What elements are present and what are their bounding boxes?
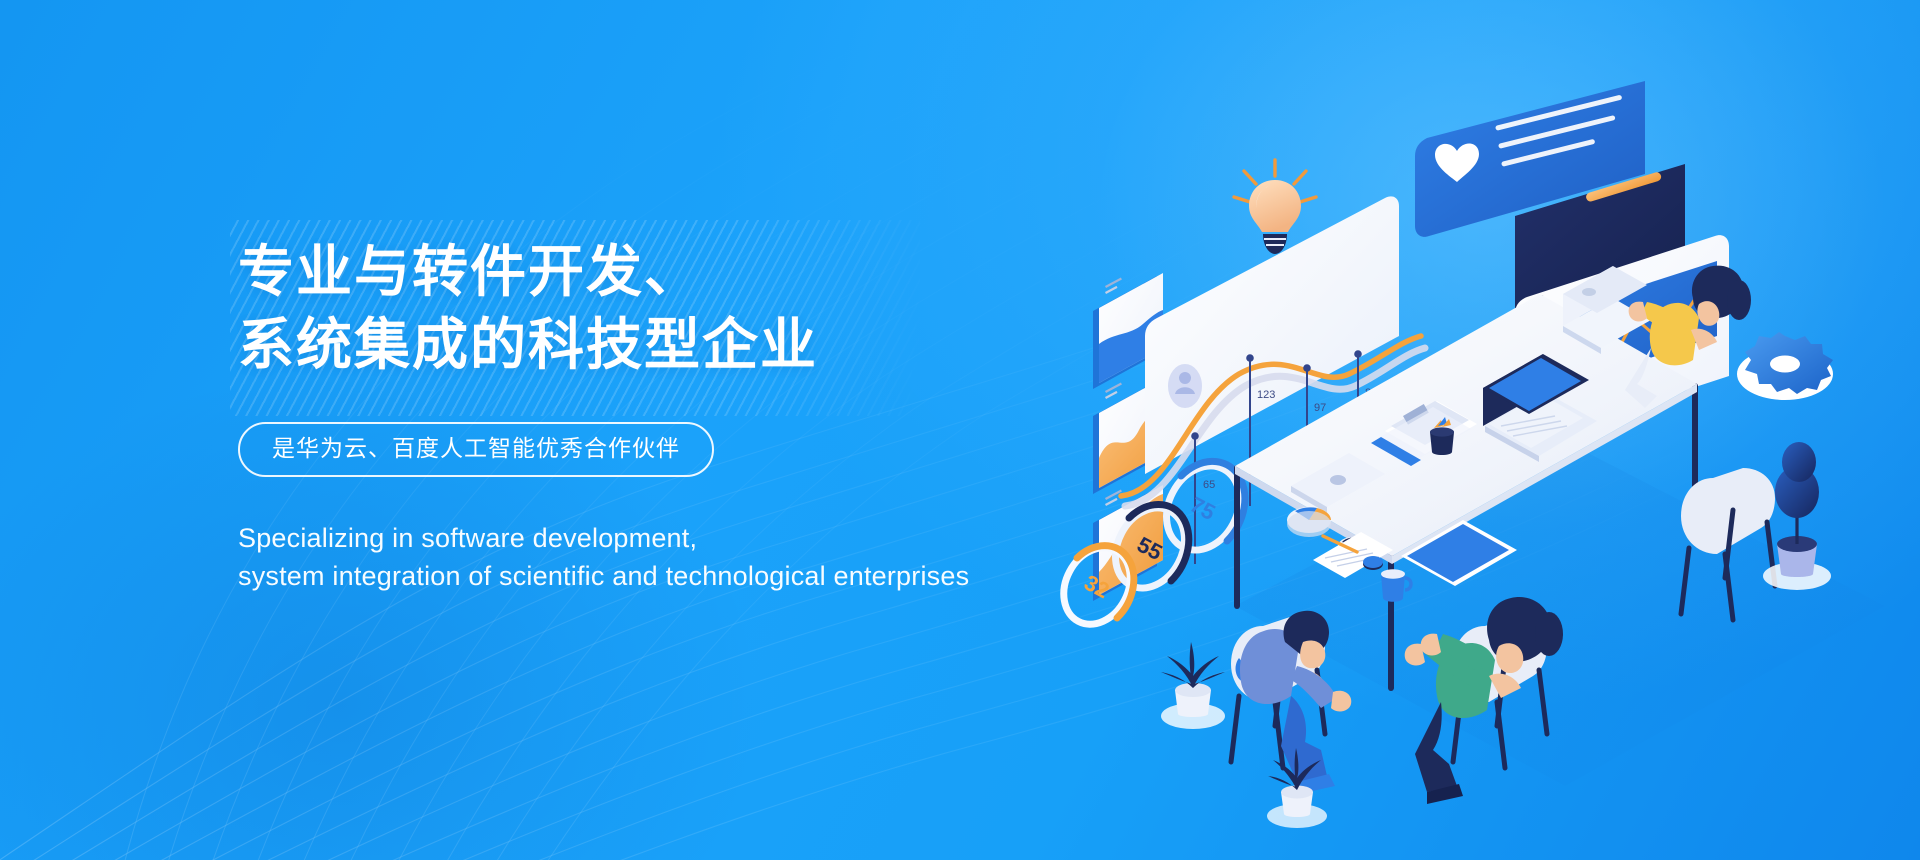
hero-subtitle: Specializing in software development, sy… [238, 519, 1198, 596]
ink-dot [1363, 556, 1383, 570]
pie-chart-prop [1287, 507, 1331, 537]
chart-label-97: 97 [1314, 402, 1326, 414]
gear-icon [1737, 332, 1833, 400]
lightbulb-icon [1234, 160, 1316, 254]
plant-icon [1763, 442, 1831, 590]
hero-banner: 专业与转件开发、 系统集成的科技型企业 是华为云、百度人工智能优秀合作伙伴 Sp… [0, 0, 1920, 860]
partner-badge[interactable]: 是华为云、百度人工智能优秀合作伙伴 [238, 422, 714, 477]
plant-icon-spiky-left [1161, 642, 1225, 729]
subtitle-line-2: system integration of scientific and tec… [238, 557, 1198, 595]
headline-line-1: 专业与转件开发、 [238, 236, 1198, 309]
hero-copy: 专业与转件开发、 系统集成的科技型企业 是华为云、百度人工智能优秀合作伙伴 Sp… [238, 236, 1198, 595]
chart-label-123: 123 [1257, 389, 1275, 401]
chart-label-65: 65 [1203, 479, 1215, 491]
hero-illustration: 65 123 97 81 [1085, 86, 1905, 786]
page-title: 专业与转件开发、 系统集成的科技型企业 [238, 236, 1198, 382]
subtitle-line-1: Specializing in software development, [238, 519, 1198, 557]
headline-line-2: 系统集成的科技型企业 [238, 309, 1198, 382]
